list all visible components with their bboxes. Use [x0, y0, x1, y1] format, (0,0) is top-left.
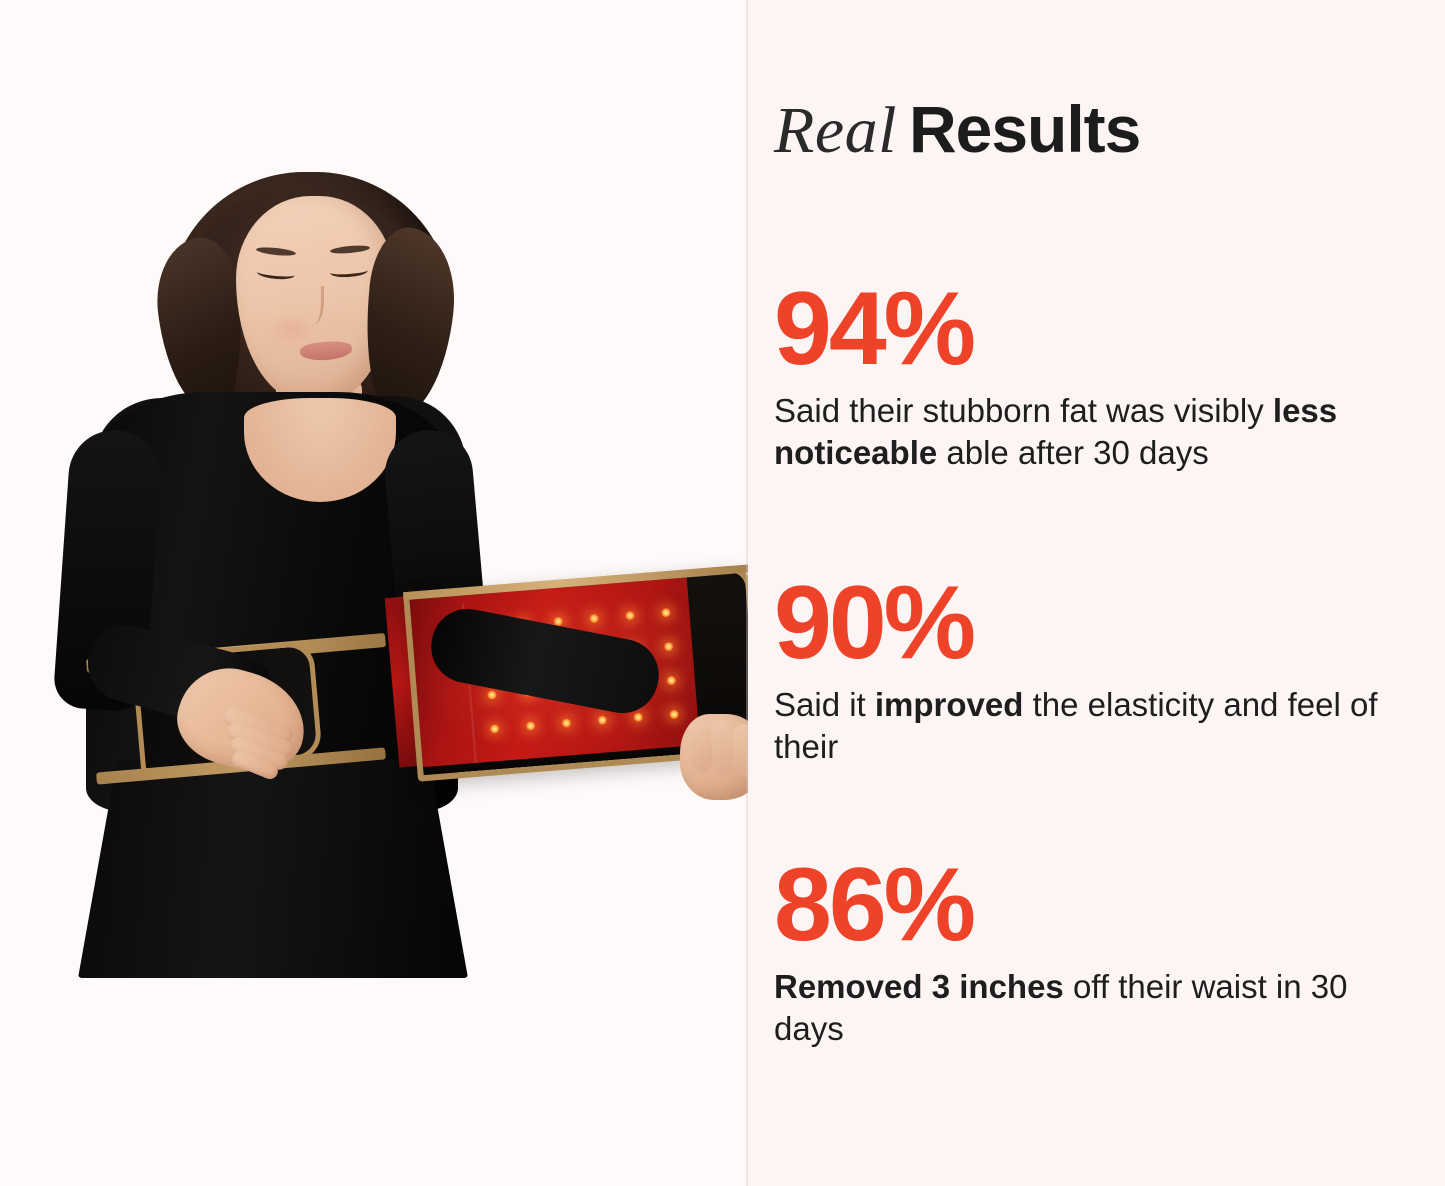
- led-dot: [669, 709, 679, 719]
- stat-description: Said it improved the elasticity and feel…: [774, 684, 1420, 768]
- page-title: RealResults: [774, 96, 1140, 164]
- product-photo: [0, 0, 748, 1186]
- stat-percentage: 86%: [774, 858, 1426, 954]
- led-dot: [489, 724, 499, 734]
- stat-text-plain: Said it: [774, 686, 875, 723]
- led-dot: [589, 613, 599, 623]
- stat-block: 90% Said it improved the elasticity and …: [774, 576, 1426, 768]
- torso-lower: [78, 760, 468, 978]
- stat-text-plain: Said their stubborn fat was visibly: [774, 392, 1264, 429]
- model-figure: [0, 0, 748, 1186]
- promo-graphic: RealResults 94% Said their stubborn fat …: [0, 0, 1445, 1186]
- led-dot: [633, 712, 643, 722]
- stat-text-bold: improved: [875, 686, 1024, 723]
- led-dot: [487, 690, 497, 700]
- stat-block: 86% Removed 3 inches off their waist in …: [774, 858, 1426, 1050]
- title-bold-word: Results: [909, 92, 1140, 166]
- led-dot: [661, 607, 671, 617]
- led-dot: [663, 641, 673, 651]
- finger: [711, 719, 736, 776]
- stat-percentage: 94%: [774, 282, 1426, 378]
- led-dot: [561, 718, 571, 728]
- results-panel: RealResults 94% Said their stubborn fat …: [748, 0, 1445, 1186]
- stat-text-plain: the elasticity and: [1023, 686, 1278, 723]
- stat-percentage: 90%: [774, 576, 1426, 672]
- title-script-word: Real: [774, 94, 897, 167]
- stat-text-plain: able after 30 days: [937, 434, 1209, 471]
- stat-description: Said their stubborn fat was visibly less…: [774, 390, 1420, 474]
- stat-text-bold: Removed 3 inches: [774, 968, 1064, 1005]
- led-dot: [597, 715, 607, 725]
- stat-block: 94% Said their stubborn fat was visibly …: [774, 282, 1426, 474]
- stat-description: Removed 3 inches off their waist in 30 d…: [774, 966, 1420, 1050]
- led-dot: [625, 610, 635, 620]
- led-dot: [666, 675, 676, 685]
- led-dot: [525, 721, 535, 731]
- stat-text-plain: off their waist in: [1064, 968, 1302, 1005]
